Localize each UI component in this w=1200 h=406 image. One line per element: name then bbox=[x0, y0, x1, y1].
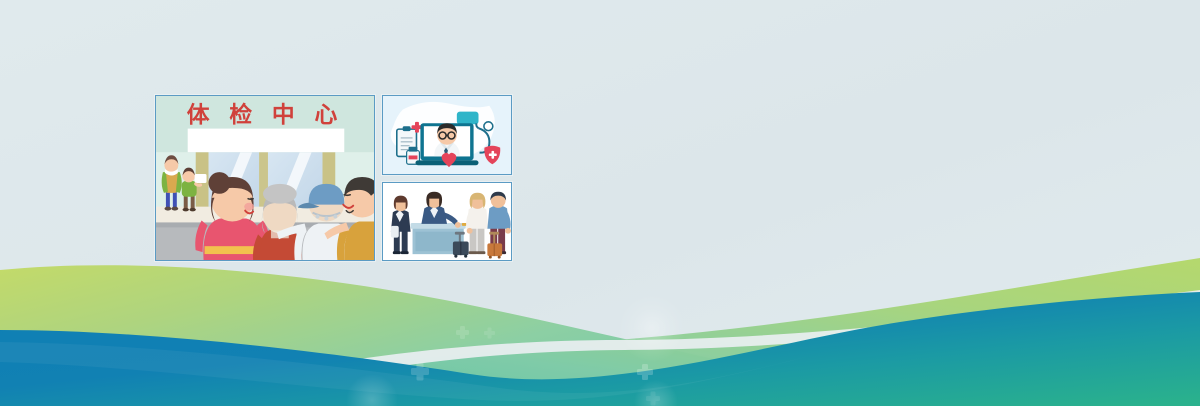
reception-desk-illustration bbox=[383, 183, 511, 260]
blank-banner bbox=[188, 129, 345, 153]
secondary-card-column bbox=[382, 95, 512, 261]
signboard-title: 体 检 中 心 bbox=[187, 102, 344, 129]
card-reception-desk-check-in[interactable] bbox=[382, 182, 512, 261]
stethoscope-head bbox=[484, 122, 493, 131]
illustration-card-group: 体 检 中 心 bbox=[155, 95, 512, 261]
telemedicine-illustration bbox=[383, 96, 511, 174]
bell bbox=[462, 223, 467, 226]
card-online-doctor-consultation[interactable] bbox=[382, 95, 512, 175]
signboard-text: 体 检 中 心 bbox=[187, 102, 344, 129]
health-check-center-illustration: 体 检 中 心 bbox=[156, 96, 374, 260]
card-health-check-center[interactable]: 体 检 中 心 bbox=[155, 95, 375, 261]
belt bbox=[205, 246, 261, 254]
glow-spot-1 bbox=[618, 294, 686, 362]
banner-canvas: 体 检 中 心 bbox=[0, 0, 1200, 406]
folder bbox=[391, 226, 399, 238]
hair-bun bbox=[209, 172, 231, 194]
